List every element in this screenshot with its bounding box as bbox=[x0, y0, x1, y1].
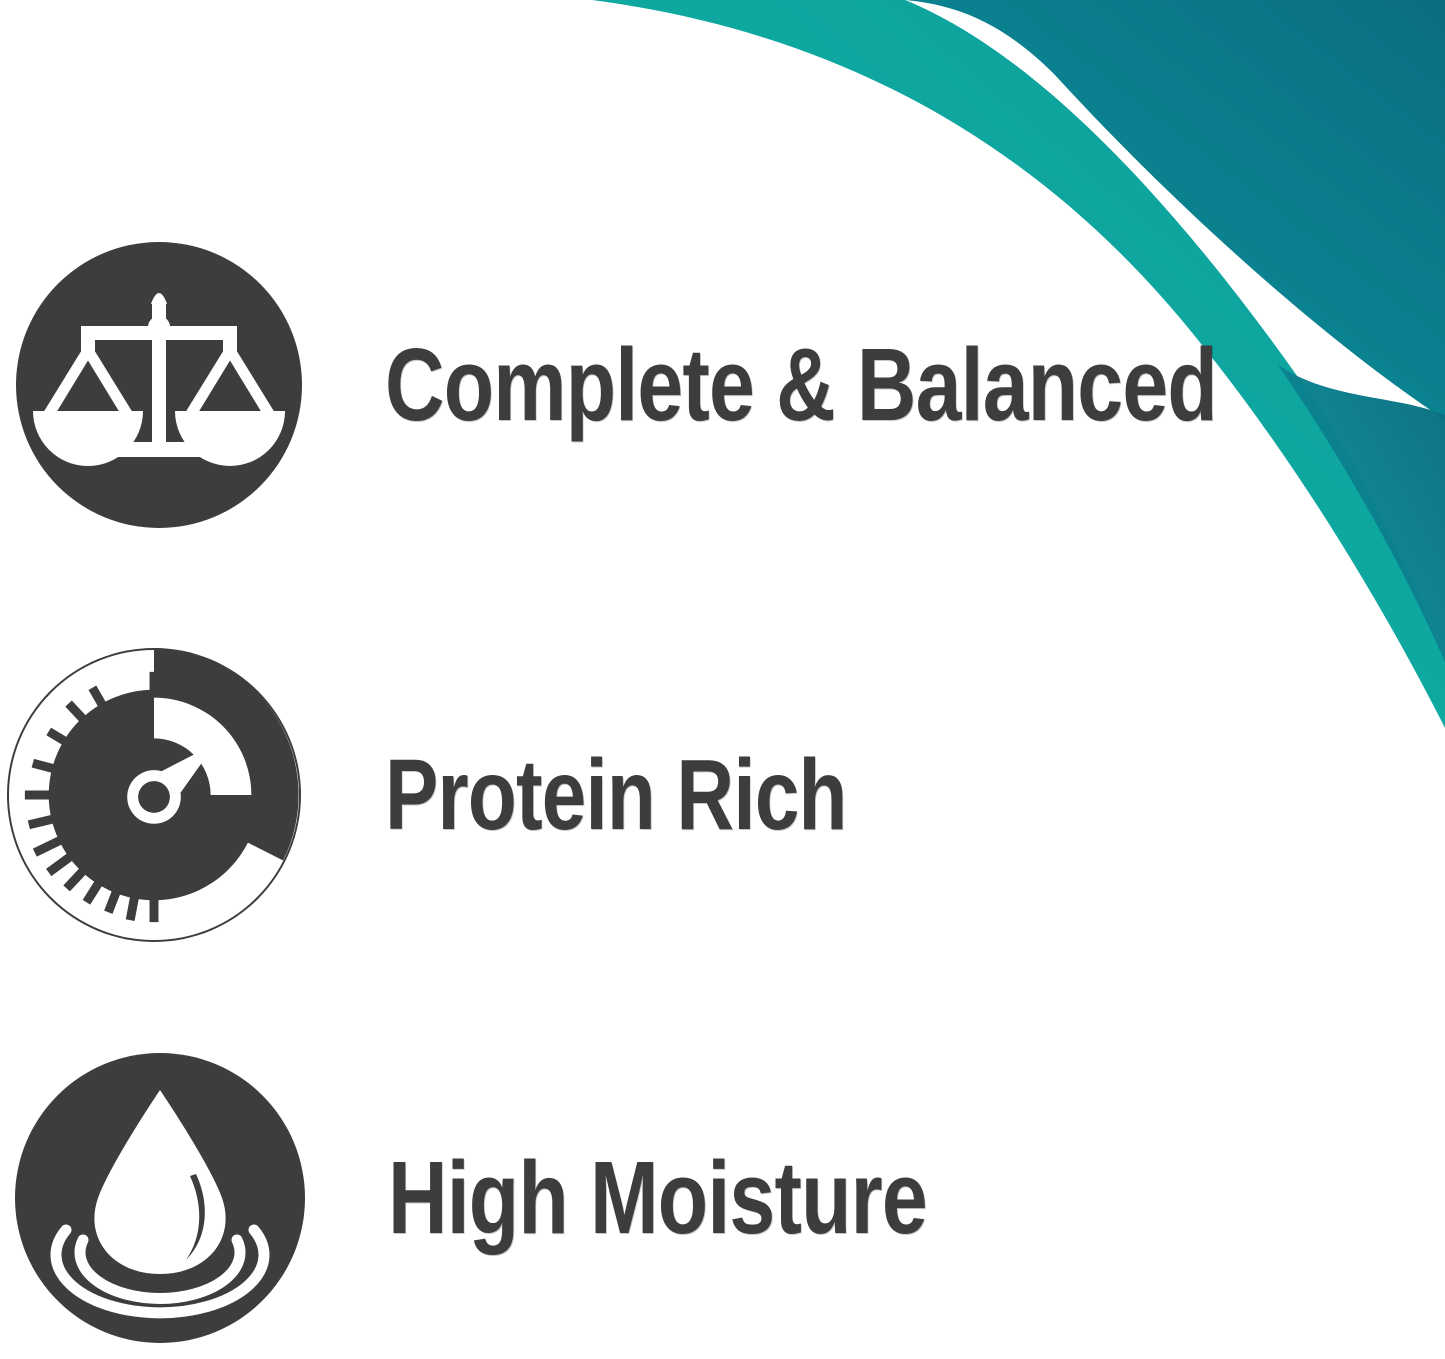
benefit-row: Protein Rich bbox=[0, 645, 1445, 945]
water-droplet-icon bbox=[14, 1052, 306, 1344]
benefit-label: Complete & Balanced bbox=[385, 332, 1233, 437]
product-benefits-panel: Complete & Balanced bbox=[0, 0, 1445, 1359]
benefit-label: Protein Rich bbox=[385, 744, 1233, 846]
benefit-row: High Moisture bbox=[0, 1048, 1445, 1348]
benefit-label: High Moisture bbox=[388, 1145, 1234, 1250]
balance-scale-icon bbox=[15, 241, 303, 529]
benefit-row: Complete & Balanced bbox=[0, 240, 1445, 530]
gauge-meter-icon bbox=[5, 646, 303, 944]
